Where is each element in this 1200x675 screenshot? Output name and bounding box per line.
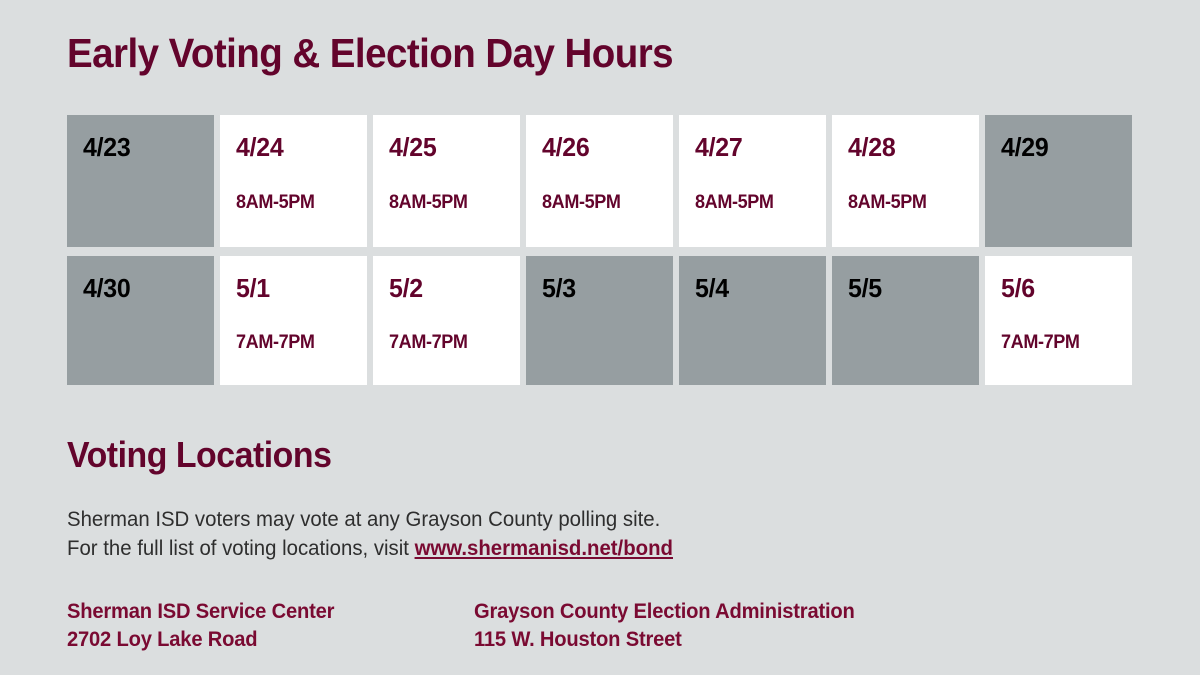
calendar-day-date: 4/24 [236, 134, 362, 160]
calendar-day-date: 4/28 [848, 134, 974, 160]
calendar-day-date: 4/25 [389, 134, 515, 160]
calendar-day-date: 4/27 [695, 134, 821, 160]
calendar-day-hours: 8AM-5PM [848, 193, 927, 212]
calendar-day-hours: 7AM-7PM [1001, 333, 1080, 352]
calendar-day-date: 4/30 [83, 275, 209, 301]
calendar-day-hours: 8AM-5PM [695, 193, 774, 212]
description-line-2: For the full list of voting locations, v… [67, 534, 673, 563]
calendar-day-hours: 7AM-7PM [236, 333, 315, 352]
calendar-day-4-27: 4/278AM-5PM [679, 115, 826, 247]
calendar-day-4-28: 4/288AM-5PM [832, 115, 979, 247]
description-line-2-prefix: For the full list of voting locations, v… [67, 537, 415, 560]
address-list: Sherman ISD Service Center2702 Loy Lake … [67, 598, 871, 654]
calendar-day-date: 4/29 [1001, 134, 1127, 160]
calendar-day-4-30: 4/30 [67, 256, 214, 385]
calendar-day-5-1: 5/17AM-7PM [220, 256, 367, 385]
calendar-day-date: 5/5 [848, 275, 974, 301]
calendar-day-date: 5/2 [389, 275, 515, 301]
address-street: 115 W. Houston Street [474, 626, 855, 654]
calendar-day-4-25: 4/258AM-5PM [373, 115, 520, 247]
address-street: 2702 Loy Lake Road [67, 626, 458, 654]
voting-locations-heading: Voting Locations [67, 437, 331, 473]
address-name: Sherman ISD Service Center [67, 598, 458, 626]
calendar-day-date: 5/4 [695, 275, 821, 301]
calendar-day-hours: 7AM-7PM [389, 333, 468, 352]
page-title: Early Voting & Election Day Hours [67, 33, 673, 74]
calendar-day-date: 4/26 [542, 134, 668, 160]
description-line-1: Sherman ISD voters may vote at any Grays… [67, 505, 673, 534]
calendar-day-5-6: 5/67AM-7PM [985, 256, 1132, 385]
calendar-day-4-24: 4/248AM-5PM [220, 115, 367, 247]
calendar-day-date: 4/23 [83, 134, 209, 160]
calendar-day-5-2: 5/27AM-7PM [373, 256, 520, 385]
calendar-day-4-23: 4/23 [67, 115, 214, 247]
calendar-day-hours: 8AM-5PM [236, 193, 315, 212]
calendar-day-5-3: 5/3 [526, 256, 673, 385]
calendar-row: 4/234/248AM-5PM4/258AM-5PM4/268AM-5PM4/2… [67, 115, 1131, 247]
calendar-row: 4/305/17AM-7PM5/27AM-7PM5/35/45/55/67AM-… [67, 256, 1131, 385]
calendar-day-5-4: 5/4 [679, 256, 826, 385]
calendar-day-date: 5/1 [236, 275, 362, 301]
address-block: Grayson County Election Administration11… [474, 598, 855, 654]
bond-website-link[interactable]: www.shermanisd.net/bond [415, 537, 673, 560]
address-name: Grayson County Election Administration [474, 598, 855, 626]
calendar-day-4-29: 4/29 [985, 115, 1132, 247]
calendar-day-hours: 8AM-5PM [542, 193, 621, 212]
calendar-day-date: 5/6 [1001, 275, 1127, 301]
calendar-day-date: 5/3 [542, 275, 668, 301]
address-block: Sherman ISD Service Center2702 Loy Lake … [67, 598, 458, 654]
voting-locations-description: Sherman ISD voters may vote at any Grays… [67, 505, 673, 563]
voting-hours-calendar: 4/234/248AM-5PM4/258AM-5PM4/268AM-5PM4/2… [67, 115, 1131, 385]
calendar-day-hours: 8AM-5PM [389, 193, 468, 212]
calendar-day-4-26: 4/268AM-5PM [526, 115, 673, 247]
calendar-day-5-5: 5/5 [832, 256, 979, 385]
